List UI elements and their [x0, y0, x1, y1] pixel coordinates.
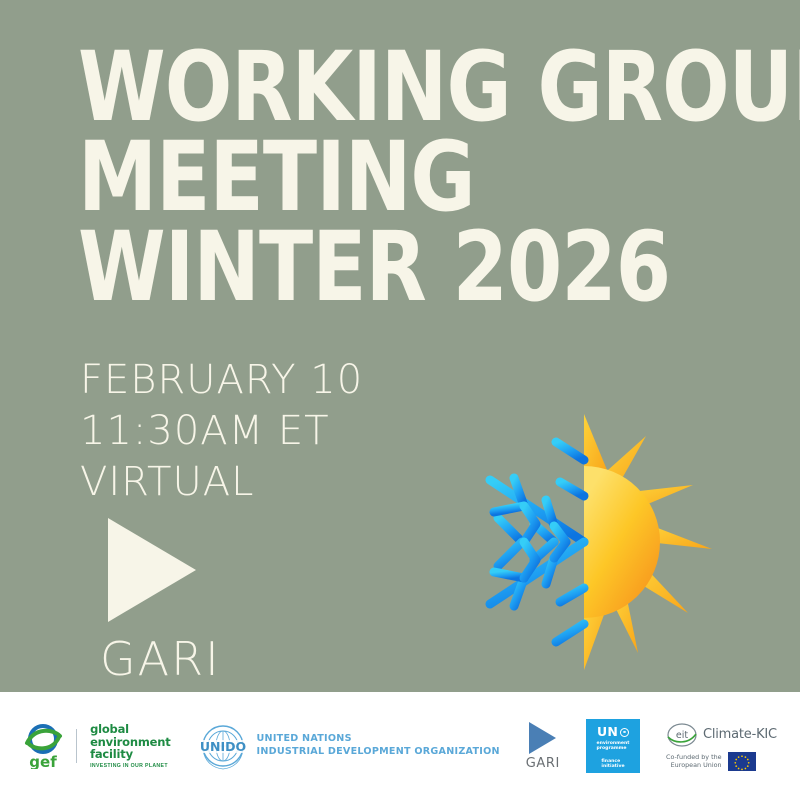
event-poster: WORKING GROUP MEETING WINTER 2026 FEBRUA…: [0, 0, 800, 800]
unep-fi-2: initiative: [601, 764, 624, 770]
environment-globe-icon: ⚭: [620, 728, 629, 737]
headline-line-2: MEETING: [78, 132, 704, 222]
logo-unep-fi: UN ⚭ environment programme finance initi…: [586, 719, 640, 773]
page-title: WORKING GROUP MEETING WINTER 2026: [78, 42, 758, 313]
event-date: FEBRUARY 10: [80, 355, 363, 406]
gef-globe-icon: gef: [23, 723, 63, 769]
event-time: 11:30AM ET: [80, 406, 363, 457]
gef-line-3: facility: [90, 748, 170, 760]
headline-line-3: WINTER 2026: [78, 222, 704, 312]
sun-disc: [584, 466, 660, 618]
gari-footer-label: GARI: [526, 756, 560, 771]
logo-gef: gef global environment facility INVESTIN…: [23, 723, 170, 769]
gef-line-1: global: [90, 723, 170, 735]
unep-sub-2: programme: [596, 746, 629, 752]
unep-title: UN: [597, 726, 618, 739]
eu-funding-line-1: Co-funded by the: [666, 753, 722, 761]
unido-emblem-icon: UNIDO: [197, 720, 249, 772]
unido-acronym: UNIDO: [199, 739, 245, 754]
gari-brand-name: GARI: [100, 632, 221, 686]
svg-text:gef: gef: [29, 753, 57, 769]
divider: [76, 729, 77, 763]
eit-badge-label: eit: [676, 730, 688, 741]
unido-line-1: UNITED NATIONS: [257, 733, 500, 746]
event-location: VIRTUAL: [80, 457, 363, 508]
gef-tagline: INVESTING IN OUR PLANET: [90, 763, 170, 769]
play-triangle-icon: [108, 518, 196, 622]
snowflake-arms: [460, 414, 584, 670]
logo-gari: GARI: [526, 722, 560, 771]
logo-unido: UNIDO UNITED NATIONS INDUSTRIAL DEVELOPM…: [197, 720, 500, 772]
eu-funding-line-2: European Union: [666, 761, 722, 769]
climate-kic-name: Climate-KIC: [703, 727, 777, 742]
unido-line-2: INDUSTRIAL DEVELOPMENT ORGANIZATION: [257, 746, 500, 759]
gari-brand-lockup: GARI: [100, 518, 221, 686]
play-triangle-icon: [529, 722, 556, 754]
eit-badge-icon: eit: [666, 722, 698, 748]
partner-logo-bar: gef global environment facility INVESTIN…: [0, 692, 800, 800]
headline-line-1: WORKING GROUP: [78, 42, 704, 132]
logo-climate-kic: eit Climate-KIC Co-funded by the Europea…: [666, 722, 777, 771]
snowflake-sun-icon: [450, 408, 735, 673]
event-details: FEBRUARY 10 11:30AM ET VIRTUAL: [80, 355, 363, 509]
eu-flag-icon: [728, 752, 756, 771]
